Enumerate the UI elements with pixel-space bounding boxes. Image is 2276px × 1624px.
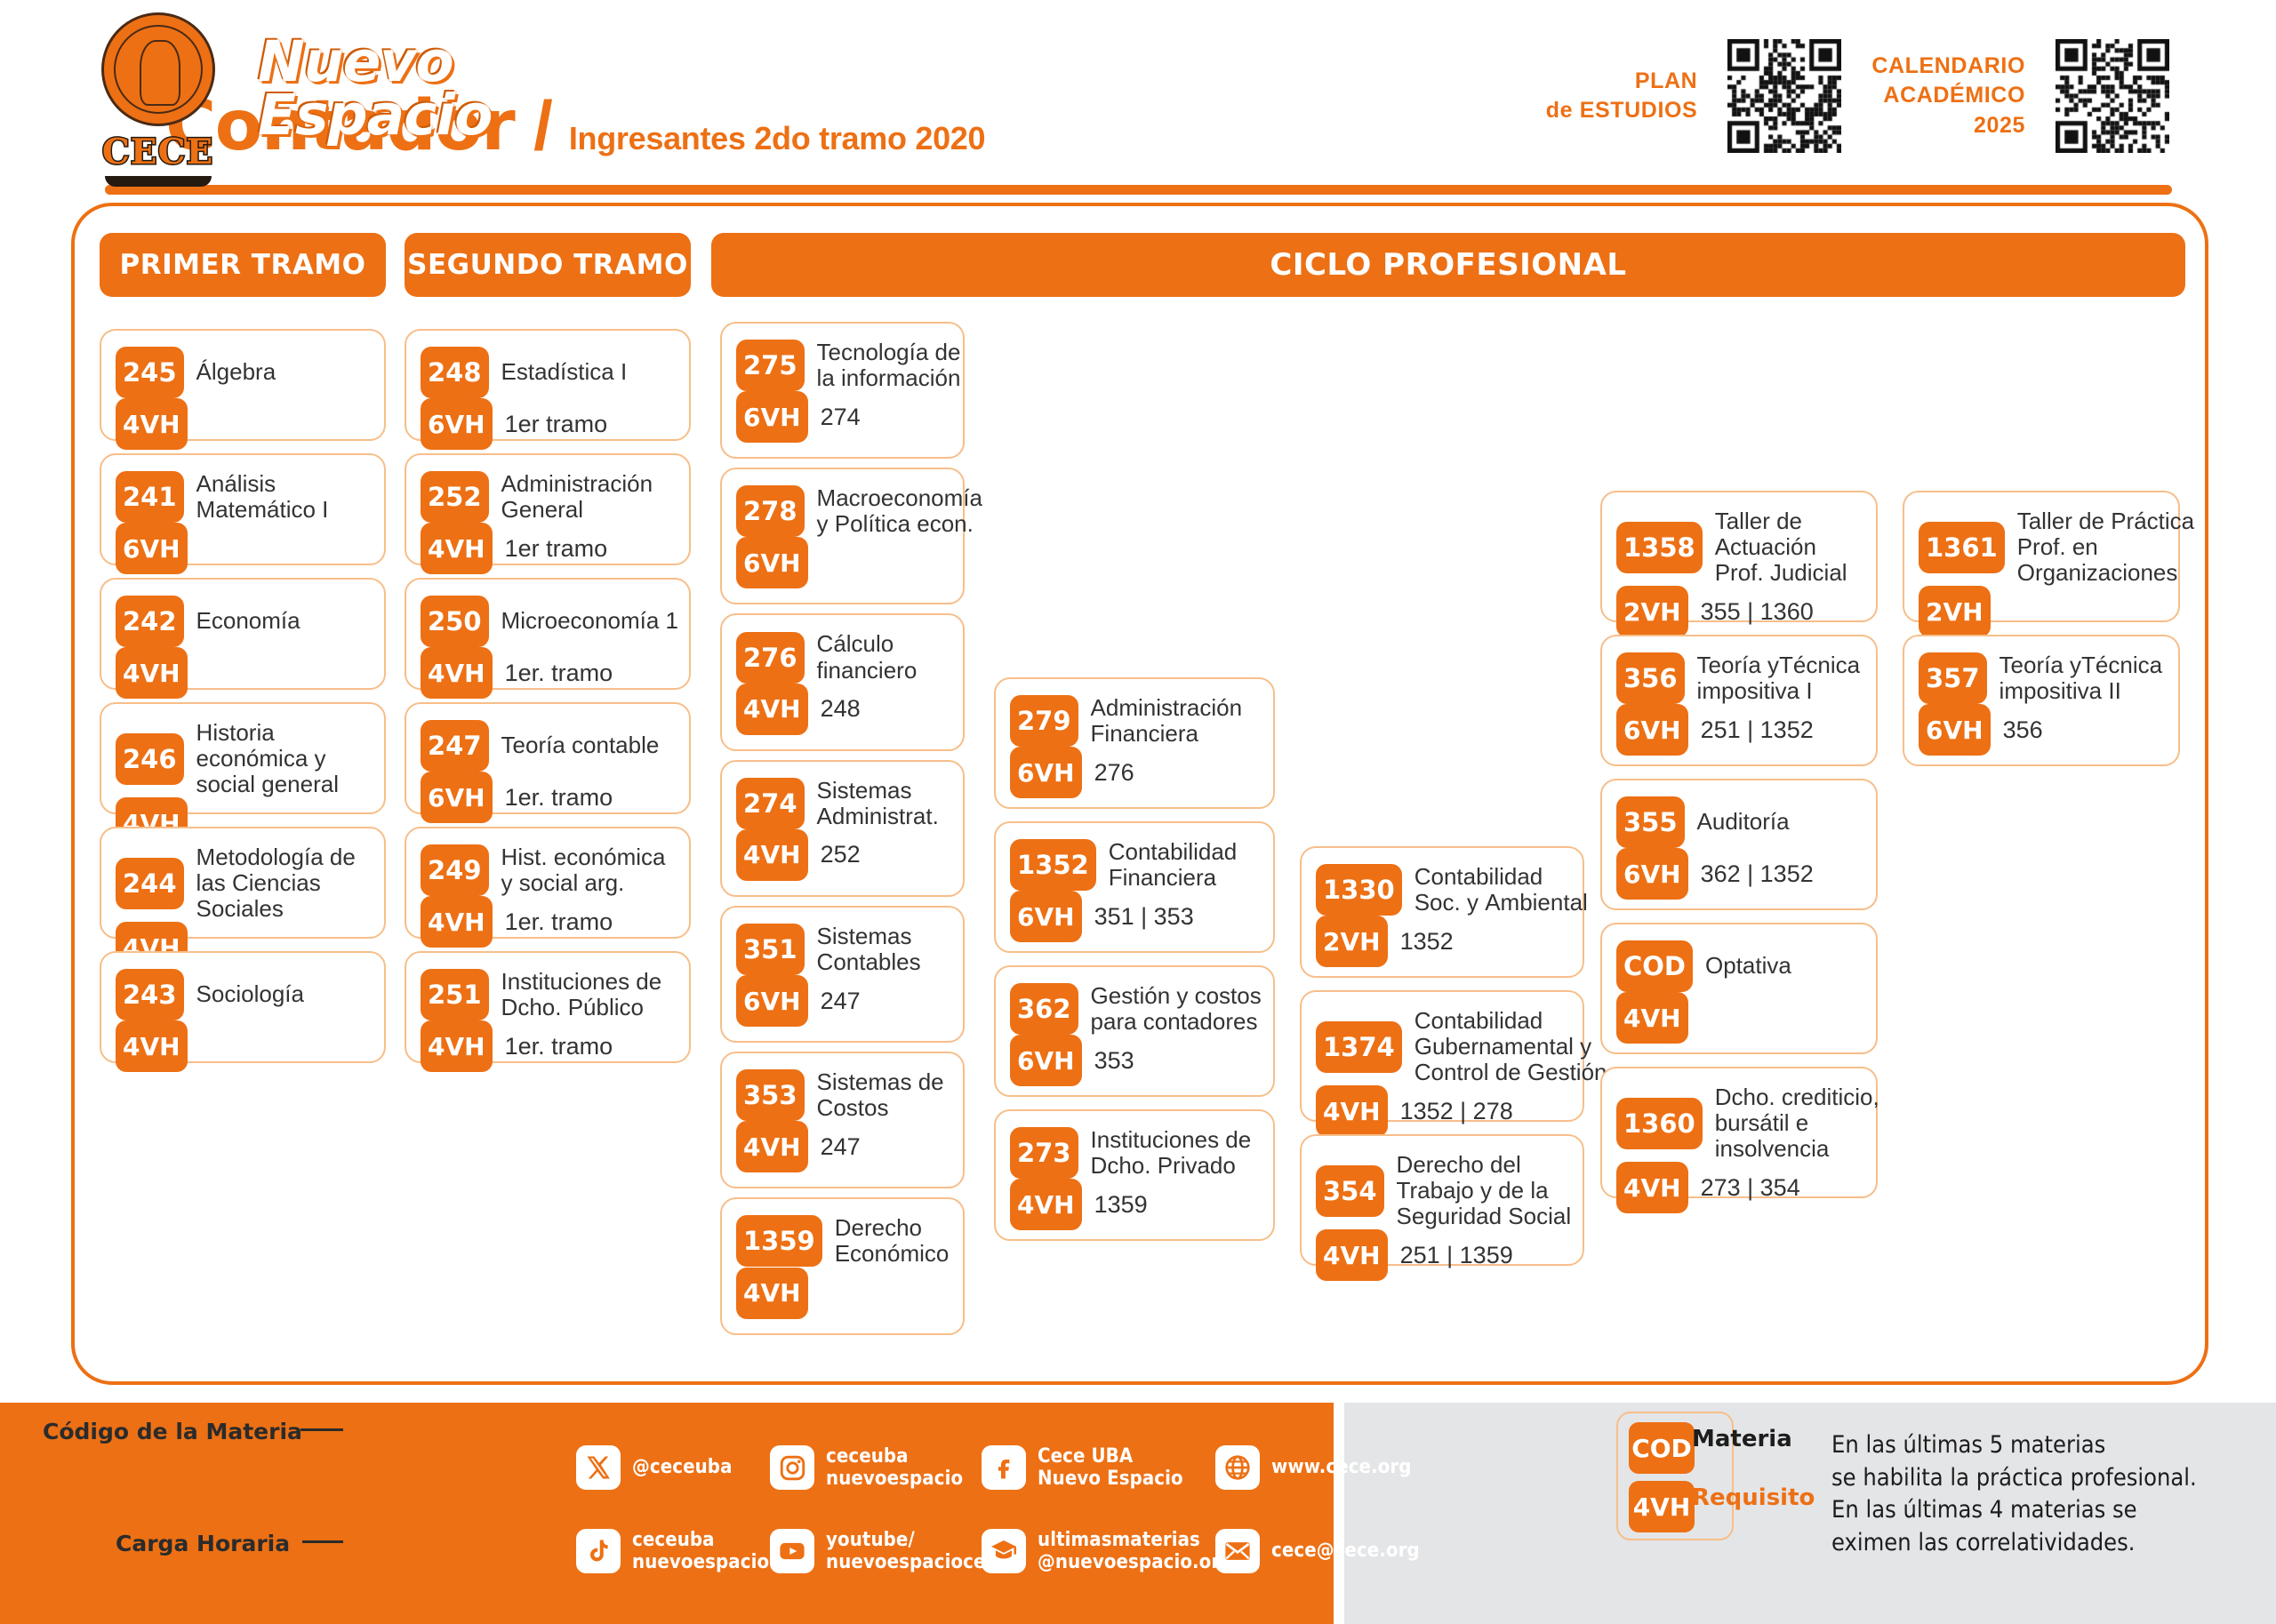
course-subject-name: Instituciones deDcho. Privado	[1091, 1127, 1252, 1179]
course-code-chip: 247	[421, 720, 489, 772]
course-subject-name: Teoría yTécnicaimpositiva I	[1697, 652, 1861, 704]
social-handle-text: www.cece.org	[1271, 1456, 1412, 1478]
course-prerequisites: 355 | 1360	[1701, 598, 1814, 626]
course-prerequisites: 274	[821, 404, 861, 431]
course-subject-name: AdministraciónGeneral	[501, 471, 653, 523]
course-hours-chip: 6VH	[736, 975, 808, 1027]
course-hours-chip: 4VH	[116, 1020, 188, 1072]
course-prerequisites: 247	[821, 988, 861, 1015]
course-subject-name: AdministraciónFinanciera	[1091, 695, 1243, 747]
course-prerequisites: 252	[821, 841, 861, 868]
course-hours-chip: 4VH	[1616, 992, 1688, 1044]
course-card[interactable]: 1359DerechoEconómico4VH	[720, 1197, 965, 1334]
course-card[interactable]: CODOptativa4VH	[1600, 923, 1878, 1054]
course-hours-chip: 4VH	[736, 829, 808, 881]
course-subject-name: Álgebra	[196, 359, 276, 385]
course-card[interactable]: 351SistemasContables6VH247	[720, 906, 965, 1043]
qr-code-plan-estudios[interactable]	[1727, 39, 1841, 153]
x-twitter-icon	[576, 1445, 621, 1490]
track-header-primer-tramo: PRIMER TRAMO	[100, 233, 386, 297]
course-hours-chip: 4VH	[116, 647, 188, 699]
course-hours-chip: 6VH	[116, 523, 188, 574]
course-code-chip: COD	[1616, 940, 1693, 992]
globe-icon	[1215, 1445, 1260, 1490]
course-hours-chip: 6VH	[736, 391, 808, 443]
course-hours-chip: 4VH	[736, 1121, 808, 1172]
course-card[interactable]: 243Sociología4VH	[100, 951, 386, 1063]
course-prerequisites: 1er. tramo	[505, 784, 613, 812]
course-prerequisites: 251 | 1359	[1400, 1242, 1513, 1269]
course-card[interactable]: 247Teoría contable6VH1er. tramo	[405, 702, 691, 814]
course-code-chip: 251	[421, 969, 489, 1020]
course-prerequisites: 1er. tramo	[505, 908, 613, 936]
course-code-chip: 1360	[1616, 1098, 1703, 1149]
course-code-chip: 356	[1616, 652, 1685, 704]
legend-chip-vh: 4VH	[1629, 1481, 1695, 1532]
course-card[interactable]: 1358Taller deActuaciónProf. Judicial2VH3…	[1600, 491, 1878, 622]
course-code-chip: 249	[421, 844, 489, 896]
course-column-6: 1358Taller deActuaciónProf. Judicial2VH3…	[1600, 491, 1878, 1211]
course-card[interactable]: 241AnálisisMatemático I6VH	[100, 453, 386, 565]
calendario-academico-label: CALENDARIO ACADÉMICO 2025	[1871, 52, 2025, 141]
course-code-chip: 275	[736, 340, 805, 391]
tiktok-icon	[576, 1529, 621, 1573]
cece-seal-icon	[101, 12, 215, 126]
course-code-chip: 357	[1919, 652, 1987, 704]
social-links-grid: @ceceubaceceubanuevoespacioCece UBANuevo…	[576, 1429, 1554, 1589]
plan-label-line2: de ESTUDIOS	[1546, 96, 1698, 126]
course-card[interactable]: 356Teoría yTécnicaimpositiva I6VH251 | 1…	[1600, 635, 1878, 766]
course-code-chip: 246	[116, 733, 184, 785]
track-header-ciclo-profesional: CICLO PROFESIONAL	[711, 233, 2185, 297]
course-hours-chip: 4VH	[116, 398, 188, 450]
course-prerequisites: 356	[2003, 716, 2043, 744]
course-card[interactable]: 248Estadística I6VH1er tramo	[405, 329, 691, 441]
cece-swoosh-decoration	[105, 176, 212, 187]
course-prerequisites: 247	[821, 1133, 861, 1161]
course-prerequisites: 1er tramo	[505, 535, 608, 563]
course-code-chip: 241	[116, 471, 184, 523]
legend-text-materia: Materia	[1692, 1426, 1792, 1452]
course-hours-chip: 6VH	[736, 537, 808, 588]
course-hours-chip: 6VH	[421, 772, 493, 823]
course-card[interactable]: 357Teoría yTécnicaimpositiva II6VH356	[1903, 635, 2180, 766]
course-subject-name: Teoría contable	[501, 732, 660, 758]
course-card[interactable]: 242Economía4VH	[100, 578, 386, 690]
course-subject-name: Hist. económicay social arg.	[501, 844, 666, 896]
qr-links-area: PLAN de ESTUDIOS CALENDARIO ACADÉMICO 20…	[1546, 39, 2169, 153]
plan-label-line1: PLAN	[1546, 67, 1698, 97]
cal-label-line2: ACADÉMICO	[1871, 81, 2025, 111]
course-subject-name: Estadística I	[501, 359, 628, 385]
course-card[interactable]: 244Metodología delas CienciasSociales4VH	[100, 827, 386, 939]
course-code-chip: 353	[736, 1069, 805, 1121]
course-hours-chip: 4VH	[421, 523, 493, 574]
social-handle-text: @ceceuba	[632, 1456, 733, 1478]
course-card[interactable]: 1360Dcho. crediticio,bursátil einsolvenc…	[1600, 1067, 1878, 1198]
course-code-chip: 1359	[736, 1215, 822, 1267]
social-link-tiktok[interactable]: ceceubanuevoespacio	[576, 1513, 763, 1589]
social-link-instagram[interactable]: ceceubanuevoespacio	[770, 1429, 974, 1506]
social-handle-text: cece@cece.org	[1271, 1540, 1420, 1562]
qr-code-calendario[interactable]	[2056, 39, 2169, 153]
course-prerequisites: 1359	[1094, 1191, 1148, 1219]
course-subject-name: Derecho delTrabajo y de laSeguridad Soci…	[1397, 1152, 1572, 1229]
course-subject-name: ContabilidadFinanciera	[1109, 839, 1238, 891]
legend-label-codigo: Código de la Materia	[43, 1419, 302, 1444]
plan-de-estudios-label: PLAN de ESTUDIOS	[1546, 67, 1698, 126]
course-card[interactable]: 273Instituciones deDcho. Privado4VH1359	[994, 1109, 1275, 1241]
course-subject-name: Historiaeconómica ysocial general	[196, 720, 339, 797]
course-code-chip: 276	[736, 632, 805, 684]
course-code-chip: 244	[116, 858, 184, 909]
course-code-chip: 1361	[1919, 522, 2005, 573]
course-card[interactable]: 355Auditoría6VH362 | 1352	[1600, 779, 1878, 910]
course-code-chip: 250	[421, 596, 489, 647]
course-code-chip: 279	[1010, 695, 1078, 747]
course-subject-name: Economía	[196, 608, 301, 634]
course-card[interactable]: 278Macroeconomíay Política econ.6VH	[720, 468, 965, 604]
course-prerequisites: 351 | 353	[1094, 903, 1194, 931]
track-header-segundo-tramo: SEGUNDO TRAMO	[405, 233, 691, 297]
social-handle-text: ultimasmaterias@nuevoespacio.org	[1038, 1529, 1233, 1573]
course-subject-name: SistemasAdministrat.	[817, 778, 939, 829]
course-hours-chip: 4VH	[1616, 1162, 1688, 1213]
course-column-4: 279AdministraciónFinanciera6VH2761352Con…	[994, 677, 1275, 1253]
envelope-icon	[1215, 1529, 1260, 1573]
course-hours-chip: 6VH	[421, 398, 493, 450]
cal-label-line3: 2025	[1871, 111, 2025, 141]
header-divider-bar	[105, 185, 2172, 195]
course-hours-chip: 6VH	[1010, 747, 1082, 798]
course-card[interactable]: 275Tecnología dela información6VH274	[720, 322, 965, 459]
course-hours-chip: 4VH	[421, 647, 493, 699]
instagram-icon	[770, 1445, 814, 1490]
course-prerequisites: 362 | 1352	[1701, 860, 1814, 888]
course-subject-name: ContabilidadSoc. y Ambiental	[1414, 864, 1588, 916]
course-subject-name: Metodología delas CienciasSociales	[196, 844, 356, 922]
course-card[interactable]: 276Cálculofinanciero4VH248	[720, 613, 965, 750]
cece-logo: CECE	[89, 12, 227, 204]
course-subject-name: SistemasContables	[817, 924, 921, 975]
course-card[interactable]: 274SistemasAdministrat.4VH252	[720, 760, 965, 897]
course-code-chip: 242	[116, 596, 184, 647]
course-prerequisites: 276	[1094, 759, 1134, 787]
social-handle-text: ceceubanuevoespacio	[826, 1445, 963, 1490]
course-code-chip: 245	[116, 347, 184, 398]
course-prerequisites: 1er. tramo	[505, 1033, 613, 1060]
title-subtitle: Ingresantes 2do tramo 2020	[569, 120, 985, 157]
course-subject-name: Taller de PrácticaProf. enOrganizaciones	[2017, 508, 2194, 586]
social-link-graduation-cap[interactable]: ultimasmaterias@nuevoespacio.org	[982, 1513, 1208, 1589]
course-hours-chip: 2VH	[1616, 586, 1688, 637]
course-code-chip: 351	[736, 924, 805, 975]
course-column-7: 1361Taller de PrácticaProf. enOrganizaci…	[1903, 491, 2180, 779]
social-link-youtube[interactable]: youtube/nuevoespaciocece	[770, 1513, 974, 1589]
course-card[interactable]: 1361Taller de PrácticaProf. enOrganizaci…	[1903, 491, 2180, 622]
brand-line-2: Espacio	[258, 89, 492, 142]
course-subject-name: Cálculofinanciero	[817, 631, 918, 683]
youtube-icon	[770, 1529, 814, 1573]
course-subject-name: Instituciones deDcho. Público	[501, 969, 662, 1020]
nuevo-espacio-logo: Nuevo Espacio	[258, 36, 492, 143]
course-prerequisites: 1352	[1400, 928, 1454, 956]
course-code-chip: 1330	[1316, 864, 1402, 916]
course-hours-chip: 6VH	[1010, 1035, 1082, 1086]
course-hours-chip: 2VH	[1919, 586, 1991, 637]
course-card[interactable]: 1352ContabilidadFinanciera6VH351 | 353	[994, 821, 1275, 953]
course-code-chip: 248	[421, 347, 489, 398]
course-hours-chip: 4VH	[736, 684, 808, 735]
course-prerequisites: 273 | 354	[1701, 1174, 1800, 1202]
social-link-facebook[interactable]: Cece UBANuevo Espacio	[982, 1429, 1208, 1506]
course-subject-name: Macroeconomíay Política econ.	[817, 485, 982, 537]
course-prerequisites: 248	[821, 695, 861, 723]
course-hours-chip: 6VH	[1919, 704, 1991, 756]
course-subject-name: Auditoría	[1697, 809, 1790, 835]
course-hours-chip: 6VH	[1010, 891, 1082, 942]
course-code-chip: 274	[736, 778, 805, 829]
course-column-1: 245Álgebra4VH241AnálisisMatemático I6VH2…	[100, 329, 386, 1076]
course-subject-name: Taller deActuaciónProf. Judicial	[1715, 508, 1847, 586]
course-column-5: 1330ContabilidadSoc. y Ambiental2VH13521…	[1300, 846, 1584, 1278]
course-hours-chip: 4VH	[1316, 1085, 1388, 1137]
course-hours-chip: 4VH	[1316, 1229, 1388, 1281]
course-subject-name: Teoría yTécnicaimpositiva II	[2000, 652, 2163, 704]
course-prerequisites: 353	[1094, 1047, 1134, 1075]
course-hours-chip: 4VH	[736, 1268, 808, 1319]
course-card[interactable]: 362Gestión y costospara contadores6VH353	[994, 965, 1275, 1097]
legend-chip-cod: COD	[1629, 1422, 1695, 1474]
course-code-chip: 362	[1010, 983, 1078, 1035]
course-card[interactable]: 279AdministraciónFinanciera6VH276	[994, 677, 1275, 809]
course-card[interactable]: 1330ContabilidadSoc. y Ambiental2VH1352	[1300, 846, 1584, 978]
course-code-chip: 252	[421, 471, 489, 523]
course-hours-chip: 6VH	[1616, 704, 1688, 756]
social-handle-text: Cece UBANuevo Espacio	[1038, 1445, 1183, 1490]
course-prerequisites: 251 | 1352	[1701, 716, 1814, 744]
social-link-globe[interactable]: www.cece.org	[1215, 1429, 1420, 1506]
course-subject-name: Sociología	[196, 981, 304, 1007]
graduation-cap-icon	[982, 1529, 1026, 1573]
course-card[interactable]: 249Hist. económicay social arg.4VH1er. t…	[405, 827, 691, 939]
course-subject-name: Dcho. crediticio,bursátil einsolvencia	[1715, 1084, 1879, 1162]
course-card[interactable]: 251Instituciones deDcho. Público4VH1er. …	[405, 951, 691, 1063]
facebook-icon	[982, 1445, 1026, 1490]
cece-wordmark: CECE	[89, 132, 227, 172]
course-code-chip: 1358	[1616, 522, 1703, 573]
cal-label-line1: CALENDARIO	[1871, 52, 2025, 82]
course-card[interactable]: 1374ContabilidadGubernamental yControl d…	[1300, 990, 1584, 1122]
course-code-chip: 354	[1316, 1165, 1384, 1217]
course-card[interactable]: 353Sistemas deCostos4VH247	[720, 1052, 965, 1188]
course-card[interactable]: 250Microeconomía 14VH1er. tramo	[405, 578, 691, 690]
course-subject-name: Optativa	[1705, 953, 1791, 979]
course-column-3: 275Tecnología dela información6VH274278M…	[720, 322, 965, 1344]
course-subject-name: ContabilidadGubernamental yControl de Ge…	[1414, 1008, 1607, 1085]
course-subject-name: AnálisisMatemático I	[196, 471, 329, 523]
social-link-x-twitter[interactable]: @ceceuba	[576, 1429, 763, 1506]
legend-leader-line-1	[301, 1428, 343, 1431]
legend-note-text: En las últimas 5 materiasse habilita la …	[1831, 1429, 2197, 1560]
course-hours-chip: 6VH	[1616, 848, 1688, 900]
course-code-chip: 273	[1010, 1127, 1078, 1179]
brand-line-1: Nuevo	[258, 36, 492, 89]
course-prerequisites: 1er. tramo	[505, 660, 613, 687]
course-subject-name: Gestión y costospara contadores	[1091, 983, 1262, 1035]
social-handle-text: ceceubanuevoespacio	[632, 1529, 769, 1573]
course-prerequisites: 1352 | 278	[1400, 1098, 1513, 1125]
social-link-envelope[interactable]: cece@cece.org	[1215, 1513, 1420, 1589]
course-card[interactable]: 246Historiaeconómica ysocial general4VH	[100, 702, 386, 814]
course-subject-name: DerechoEconómico	[835, 1215, 950, 1267]
course-code-chip: 278	[736, 485, 805, 537]
legend-text-requisito: Requisito	[1692, 1484, 1815, 1511]
course-card[interactable]: 245Álgebra4VH	[100, 329, 386, 441]
course-hours-chip: 2VH	[1316, 916, 1388, 967]
course-hours-chip: 4VH	[421, 896, 493, 948]
course-subject-name: Sistemas deCostos	[817, 1069, 944, 1121]
legend-label-carga: Carga Horaria	[116, 1531, 290, 1556]
course-card[interactable]: 354Derecho delTrabajo y de laSeguridad S…	[1300, 1134, 1584, 1266]
title-slash: /	[533, 85, 553, 166]
course-code-chip: 355	[1616, 796, 1685, 848]
course-column-2: 248Estadística I6VH1er tramo252Administr…	[405, 329, 691, 1076]
legend-leader-line-2	[302, 1540, 343, 1543]
course-prerequisites: 1er tramo	[505, 411, 608, 438]
course-code-chip: 243	[116, 969, 184, 1020]
course-code-chip: 1352	[1010, 839, 1096, 891]
course-card[interactable]: 252AdministraciónGeneral4VH1er tramo	[405, 453, 691, 565]
course-subject-name: Tecnología dela información	[817, 340, 961, 391]
course-code-chip: 1374	[1316, 1021, 1402, 1073]
course-subject-name: Microeconomía 1	[501, 608, 678, 634]
course-hours-chip: 4VH	[421, 1020, 493, 1072]
course-hours-chip: 4VH	[1010, 1179, 1082, 1230]
